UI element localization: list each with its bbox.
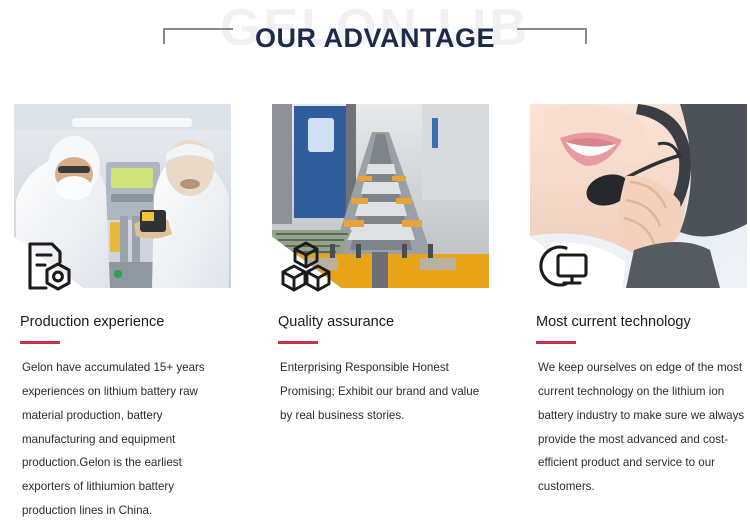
card-accent-rule (278, 341, 318, 344)
card-accent-rule (20, 341, 60, 344)
stacked-cubes-icon (278, 238, 334, 294)
advantage-card: Production experience Gelon have accumul… (14, 104, 231, 523)
card-body-text: Enterprising Responsible Honest Promisin… (272, 356, 489, 427)
card-accent-rule (536, 341, 576, 344)
decorative-rule-left-icon (163, 28, 233, 50)
section-header: GELON LIB OUR ADVANTAGE (0, 0, 750, 92)
monitor-support-icon (536, 238, 592, 294)
card-heading: Quality assurance (272, 314, 489, 331)
title-row: OUR ADVANTAGE (0, 25, 750, 52)
card-photo-wrap (14, 104, 231, 288)
page-title: OUR ADVANTAGE (233, 25, 517, 52)
card-body-text: Gelon have accumulated 15+ years experie… (14, 356, 231, 522)
file-settings-icon (20, 238, 76, 294)
advantage-card-list: Production experience Gelon have accumul… (0, 104, 750, 523)
card-photo-wrap (272, 104, 489, 288)
decorative-rule-right-icon (517, 28, 587, 50)
advantage-card: Quality assurance Enterprising Responsib… (272, 104, 489, 523)
card-body-text: We keep ourselves on edge of the most cu… (530, 356, 747, 499)
card-photo-wrap (530, 104, 747, 288)
advantage-card: Most current technology We keep ourselve… (530, 104, 747, 523)
card-heading: Most current technology (530, 314, 747, 331)
card-heading: Production experience (14, 314, 231, 331)
advantage-section: GELON LIB OUR ADVANTAGE (0, 0, 750, 525)
